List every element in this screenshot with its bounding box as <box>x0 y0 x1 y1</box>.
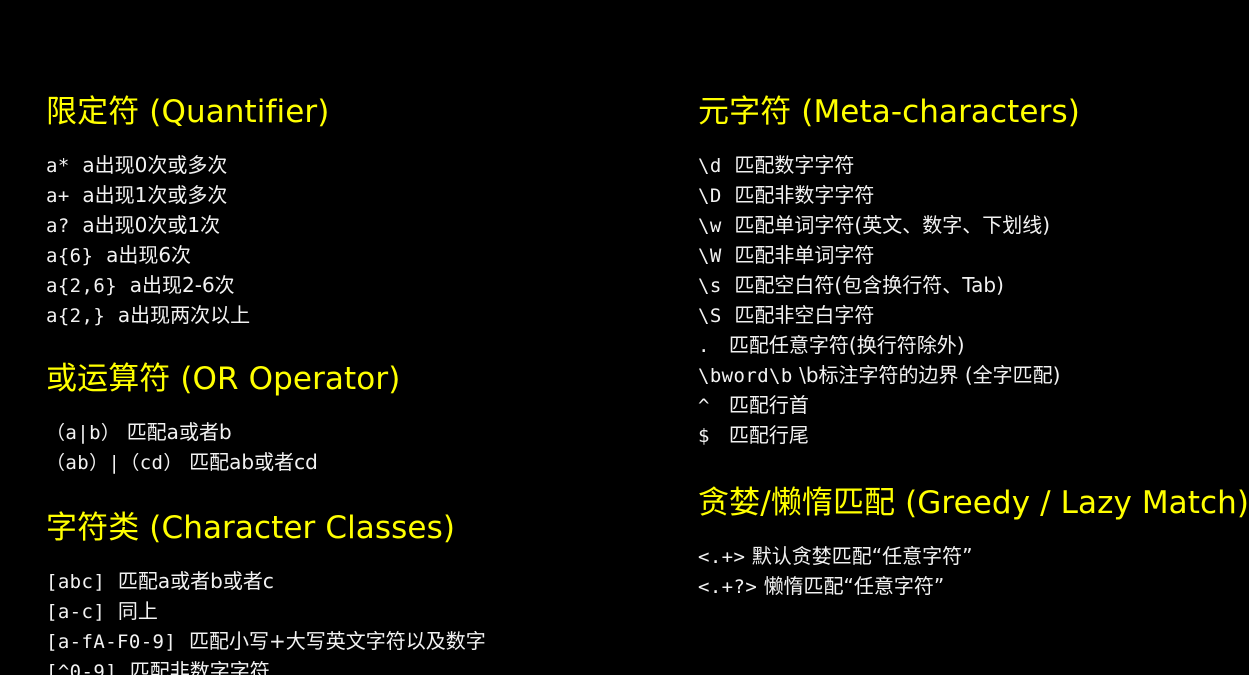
entry-desc: 匹配非空白字符 <box>734 303 874 327</box>
section-heading-quantifier: 限定符 (Quantifier) <box>46 92 644 132</box>
entry-code: \W <box>698 245 722 267</box>
two-column-layout: 限定符 (Quantifier) a* a出现0次或多次 a+ a出现1次或多次… <box>0 0 1249 675</box>
list-item: \S 匹配非空白字符 <box>698 301 1249 331</box>
entry-list-greedy-lazy-match: <.+> 默认贪婪匹配“任意字符” <.+?> 懒惰匹配“任意字符” <box>698 542 1249 602</box>
entry-desc: a出现2-6次 <box>130 273 235 297</box>
list-item: . 匹配任意字符(换行符除外) <box>698 331 1249 361</box>
list-item: a+ a出现1次或多次 <box>46 181 644 211</box>
entry-code: <.+?> <box>698 576 757 598</box>
section-heading-or-operator: 或运算符 (OR Operator) <box>46 359 644 399</box>
section-meta-characters: 元字符 (Meta-characters) \d 匹配数字字符 \D 匹配非数字… <box>698 92 1249 451</box>
section-greedy-lazy-match: 贪婪/懒惰匹配 (Greedy / Lazy Match) <.+> 默认贪婪匹… <box>698 483 1249 602</box>
entry-desc: 匹配非单词字符 <box>734 243 874 267</box>
entry-code: [abc] <box>46 571 105 593</box>
entry-code: \D <box>698 185 722 207</box>
entry-code: $ <box>698 425 710 447</box>
entry-desc: \b标注字符的边界 (全字匹配) <box>799 363 1060 387</box>
entry-desc: 匹配a或者b或者c <box>118 569 274 593</box>
entry-desc: 默认贪婪匹配“任意字符” <box>752 544 973 568</box>
entry-code: a{2,6} <box>46 275 117 297</box>
entry-code: [^0-9] <box>46 661 117 675</box>
list-item: [abc] 匹配a或者b或者c <box>46 567 644 597</box>
list-item: [a-c] 同上 <box>46 597 644 627</box>
list-item: [^0-9] 匹配非数字字符 <box>46 657 644 675</box>
entry-desc: a出现1次或多次 <box>82 183 227 207</box>
regex-cheatsheet-slide: 限定符 (Quantifier) a* a出现0次或多次 a+ a出现1次或多次… <box>0 0 1249 675</box>
entry-code: . <box>698 335 710 357</box>
section-character-classes: 字符类 (Character Classes) [abc] 匹配a或者b或者c … <box>46 508 644 675</box>
entry-desc: 匹配非数字字符 <box>734 183 874 207</box>
list-item: （a|b） 匹配a或者b <box>46 418 644 448</box>
entry-code: \bword\b <box>698 365 793 387</box>
entry-desc: 匹配任意字符(换行符除外) <box>729 333 965 357</box>
list-item: a* a出现0次或多次 <box>46 151 644 181</box>
entry-code: a{6} <box>46 245 93 267</box>
entry-desc: 懒惰匹配“任意字符” <box>764 574 945 598</box>
list-item: $ 匹配行尾 <box>698 421 1249 451</box>
entry-list-character-classes: [abc] 匹配a或者b或者c [a-c] 同上 [a-fA-F0-9] 匹配小… <box>46 567 644 675</box>
list-item: \W 匹配非单词字符 <box>698 241 1249 271</box>
left-column: 限定符 (Quantifier) a* a出现0次或多次 a+ a出现1次或多次… <box>0 0 650 675</box>
list-item: <.+?> 懒惰匹配“任意字符” <box>698 572 1249 602</box>
list-item: \D 匹配非数字字符 <box>698 181 1249 211</box>
entry-desc: a出现0次或1次 <box>82 213 220 237</box>
entry-code: \s <box>698 275 722 297</box>
list-item: ^ 匹配行首 <box>698 391 1249 421</box>
right-column: 元字符 (Meta-characters) \d 匹配数字字符 \D 匹配非数字… <box>650 0 1249 602</box>
entry-code: [a-fA-F0-9] <box>46 631 176 653</box>
entry-desc: 匹配空白符(包含换行符、Tab) <box>734 273 1003 297</box>
list-item: a? a出现0次或1次 <box>46 211 644 241</box>
entry-list-or-operator: （a|b） 匹配a或者b （ab）|（cd） 匹配ab或者cd <box>46 418 644 478</box>
list-item: [a-fA-F0-9] 匹配小写+大写英文字符以及数字 <box>46 627 644 657</box>
entry-code: a+ <box>46 185 70 207</box>
section-heading-greedy-lazy-match: 贪婪/懒惰匹配 (Greedy / Lazy Match) <box>698 483 1249 523</box>
entry-code: <.+> <box>698 546 745 568</box>
entry-code: ^ <box>698 395 710 417</box>
entry-desc: 同上 <box>118 599 158 623</box>
entry-code: a* <box>46 155 70 177</box>
list-item: \s 匹配空白符(包含换行符、Tab) <box>698 271 1249 301</box>
entry-desc: 匹配行尾 <box>729 423 809 447</box>
section-or-operator: 或运算符 (OR Operator) （a|b） 匹配a或者b （ab）|（cd… <box>46 359 644 478</box>
list-item: a{2,} a出现两次以上 <box>46 301 644 331</box>
entry-list-quantifier: a* a出现0次或多次 a+ a出现1次或多次 a? a出现0次或1次 a{6}… <box>46 151 644 331</box>
section-quantifier: 限定符 (Quantifier) a* a出现0次或多次 a+ a出现1次或多次… <box>46 92 644 331</box>
entry-code: [a-c] <box>46 601 105 623</box>
entry-code: \d <box>698 155 722 177</box>
list-item: \d 匹配数字字符 <box>698 151 1249 181</box>
entry-desc: 匹配数字字符 <box>734 153 854 177</box>
entry-desc: 匹配小写+大写英文字符以及数字 <box>189 629 486 653</box>
entry-desc: 匹配ab或者cd <box>189 450 318 474</box>
entry-list-meta-characters: \d 匹配数字字符 \D 匹配非数字字符 \w 匹配单词字符(英文、数字、下划线… <box>698 151 1249 451</box>
entry-desc: a出现6次 <box>106 243 191 267</box>
entry-desc: 匹配a或者b <box>127 420 232 444</box>
entry-code: （a|b） <box>46 422 120 444</box>
entry-code: \S <box>698 305 722 327</box>
entry-code: \w <box>698 215 722 237</box>
entry-desc: a出现0次或多次 <box>82 153 227 177</box>
section-heading-meta-characters: 元字符 (Meta-characters) <box>698 92 1249 132</box>
section-heading-character-classes: 字符类 (Character Classes) <box>46 508 644 548</box>
entry-desc: a出现两次以上 <box>118 303 250 327</box>
list-item: （ab）|（cd） 匹配ab或者cd <box>46 448 644 478</box>
list-item: <.+> 默认贪婪匹配“任意字符” <box>698 542 1249 572</box>
entry-desc: 匹配单词字符(英文、数字、下划线) <box>734 213 1050 237</box>
list-item: \w 匹配单词字符(英文、数字、下划线) <box>698 211 1249 241</box>
entry-code: （ab）|（cd） <box>46 452 183 474</box>
list-item: a{2,6} a出现2-6次 <box>46 271 644 301</box>
list-item: \bword\b \b标注字符的边界 (全字匹配) <box>698 361 1249 391</box>
entry-desc: 匹配非数字字符 <box>130 659 270 675</box>
list-item: a{6} a出现6次 <box>46 241 644 271</box>
entry-code: a? <box>46 215 70 237</box>
entry-code: a{2,} <box>46 305 105 327</box>
entry-desc: 匹配行首 <box>729 393 809 417</box>
